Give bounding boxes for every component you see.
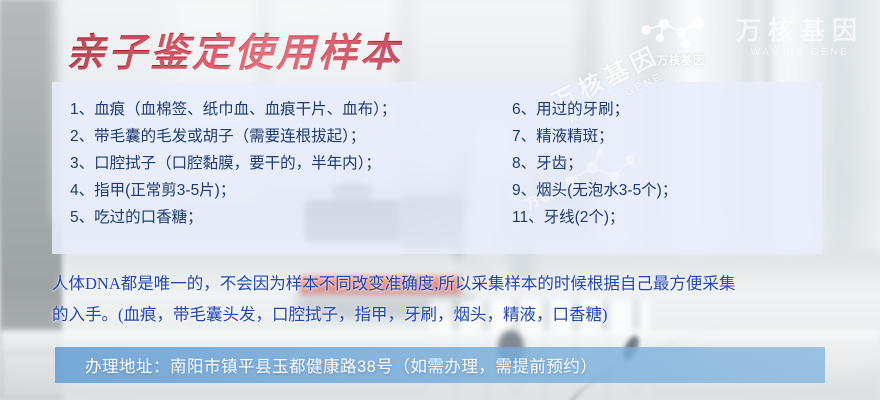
poster-canvas: 万核基因 万核基因 WAN HE GENE 亲子鉴定使用样本 1、血痕（血棉签、… [0,0,880,400]
description-line-2: 的入手。(血痕，带毛囊头发，口腔拭子，指甲，牙刷，烟头，精液，口香糖) [52,299,842,330]
list-item: 4、指甲(正常剪3-5片)； [70,177,490,204]
sample-list-left-column: 1、血痕（血棉签、纸巾血、血痕干片、血布）； 2、带毛囊的毛发或胡子（需要连根拔… [52,82,490,254]
list-item: 11、牙线(2个)； [512,204,812,231]
sample-list-right-column: 6、用过的牙刷； 7、精液精斑； 8、牙齿； 9、烟头(无泡水3-5个)； 11… [490,82,812,254]
list-item: 8、牙齿； [512,150,812,177]
list-item: 2、带毛囊的毛发或胡子（需要连根拔起）； [70,123,490,150]
list-item: 5、吃过的口香糖； [70,204,490,231]
list-item: 7、精液精斑； [512,123,812,150]
list-item: 9、烟头(无泡水3-5个)； [512,177,812,204]
page-title: 亲子鉴定使用样本 [66,22,402,78]
description-line-1: 人体DNA都是唯一的，不会因为样本不同改变准确度,所以采集样本的时候根据自己最方… [52,268,842,299]
description-paragraph: 人体DNA都是唯一的，不会因为样本不同改变准确度,所以采集样本的时候根据自己最方… [52,268,842,330]
address-text: 办理地址：南阳市镇平县玉都健康路38号（如需办理，需提前预约） [55,353,597,377]
sample-list-panel: 1、血痕（血棉签、纸巾血、血痕干片、血布）； 2、带毛囊的毛发或胡子（需要连根拔… [52,82,822,254]
molecule-icon [634,14,728,54]
brand-logo-label: 万核基因 [634,52,728,68]
address-bar: 办理地址：南阳市镇平县玉都健康路38号（如需办理，需提前预约） [55,347,825,383]
list-item: 3、口腔拭子（口腔黏膜，要干的，半年内）； [70,150,490,177]
list-item: 1、血痕（血棉签、纸巾血、血痕干片、血布）； [70,96,490,123]
list-item: 6、用过的牙刷； [512,96,812,123]
brand-logo: 万核基因 [634,14,728,72]
